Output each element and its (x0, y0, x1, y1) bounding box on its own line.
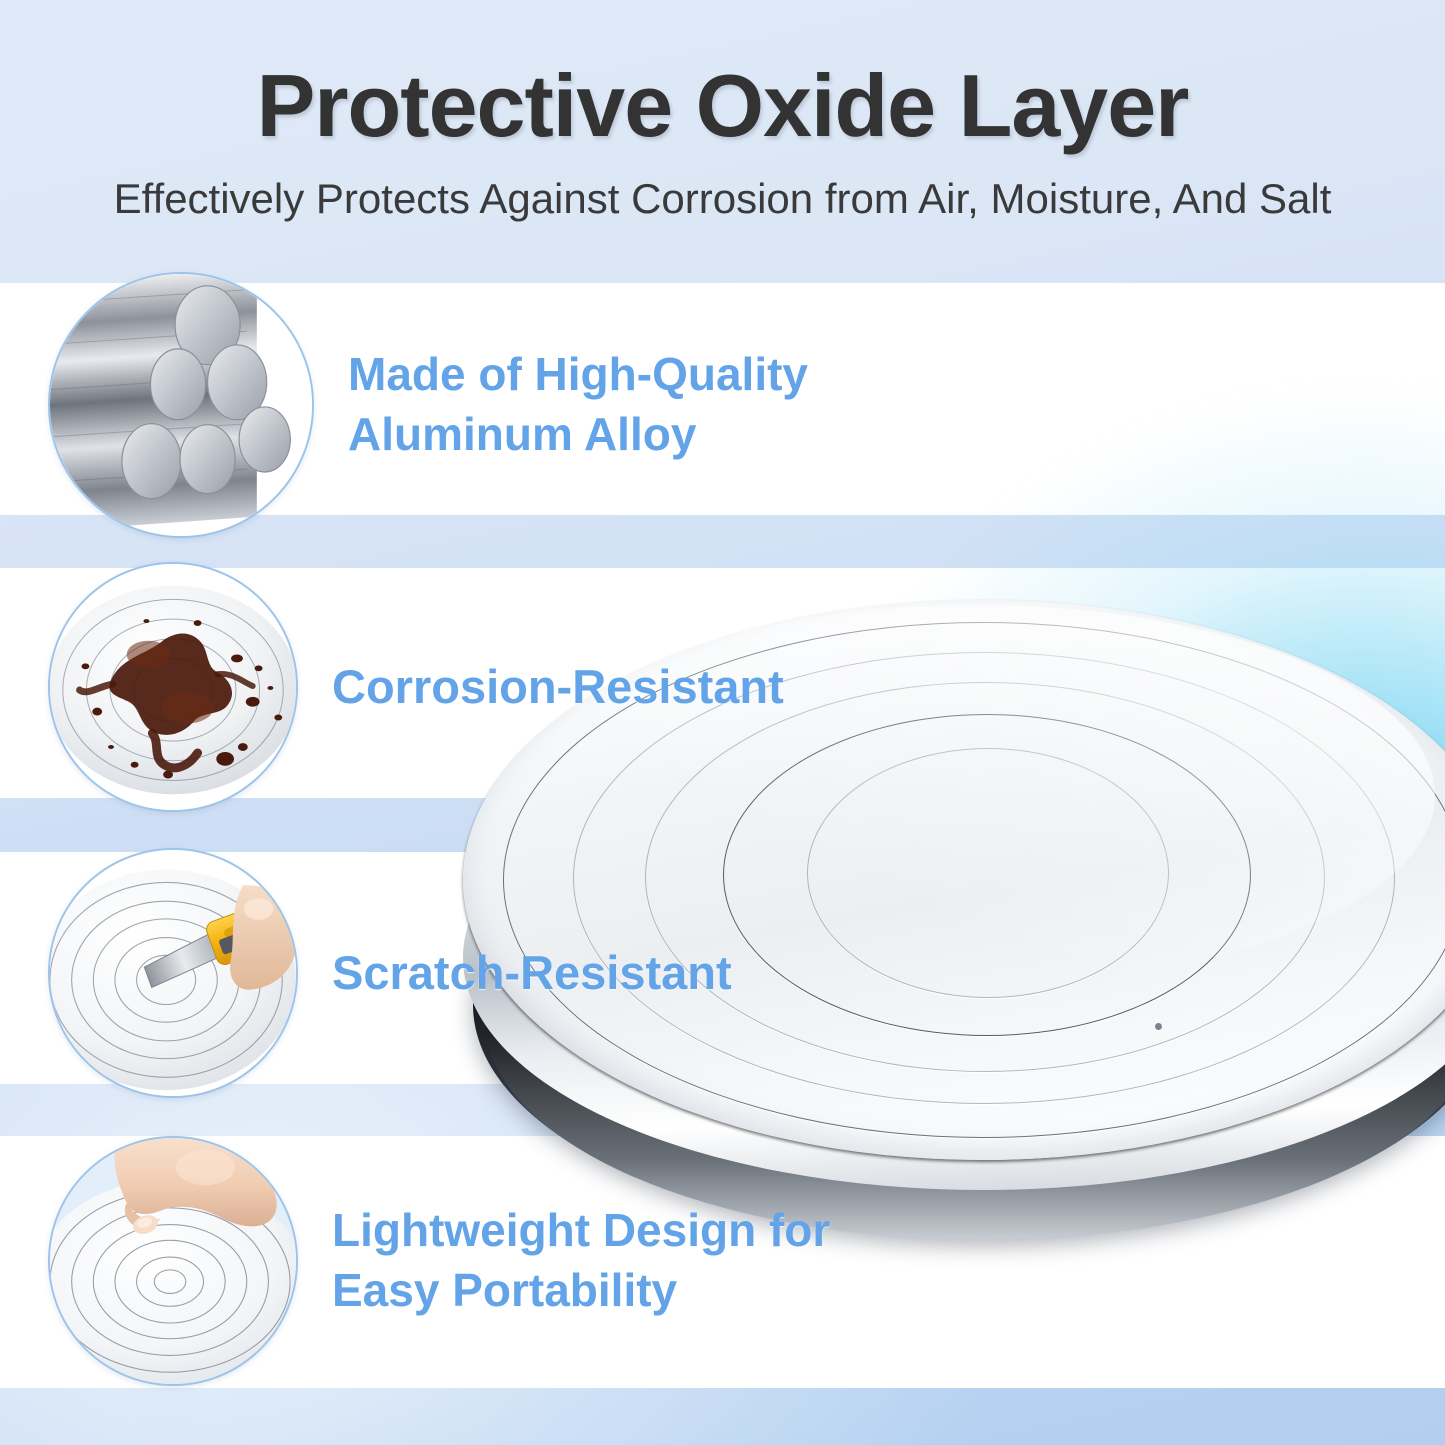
infographic-stage: Protective Oxide Layer Effectively Prote… (0, 0, 1445, 1445)
page-title: Protective Oxide Layer (0, 0, 1445, 150)
thumbnail-utility-knife (48, 848, 298, 1098)
thumbnail-soy-sauce-spill (48, 562, 298, 812)
feature-label-scratch-resistant: Scratch-Resistant (332, 942, 732, 1003)
soy-sauce-spill-icon (50, 564, 296, 810)
thumbnail-hand-holding-disc (48, 1136, 298, 1386)
thumbnail-aluminum-rods (48, 272, 314, 538)
header: Protective Oxide Layer Effectively Prote… (0, 0, 1445, 222)
utility-knife-icon (50, 850, 296, 1096)
feature-row-scratch-resistant: Scratch-Resistant (48, 848, 732, 1098)
page-subtitle: Effectively Protects Against Corrosion f… (0, 150, 1445, 222)
feature-label-lightweight-portability: Lightweight Design for Easy Portability (332, 1201, 830, 1321)
feature-row-aluminum-alloy: Made of High-Quality Aluminum Alloy (48, 272, 808, 538)
aluminum-rods-icon (50, 274, 312, 536)
hand-holding-disc-icon (50, 1138, 296, 1384)
feature-label-corrosion-resistant: Corrosion-Resistant (332, 656, 784, 717)
feature-label-aluminum-alloy: Made of High-Quality Aluminum Alloy (348, 345, 808, 465)
feature-row-lightweight-portability: Lightweight Design for Easy Portability (48, 1136, 830, 1386)
feature-row-corrosion-resistant: Corrosion-Resistant (48, 562, 784, 812)
